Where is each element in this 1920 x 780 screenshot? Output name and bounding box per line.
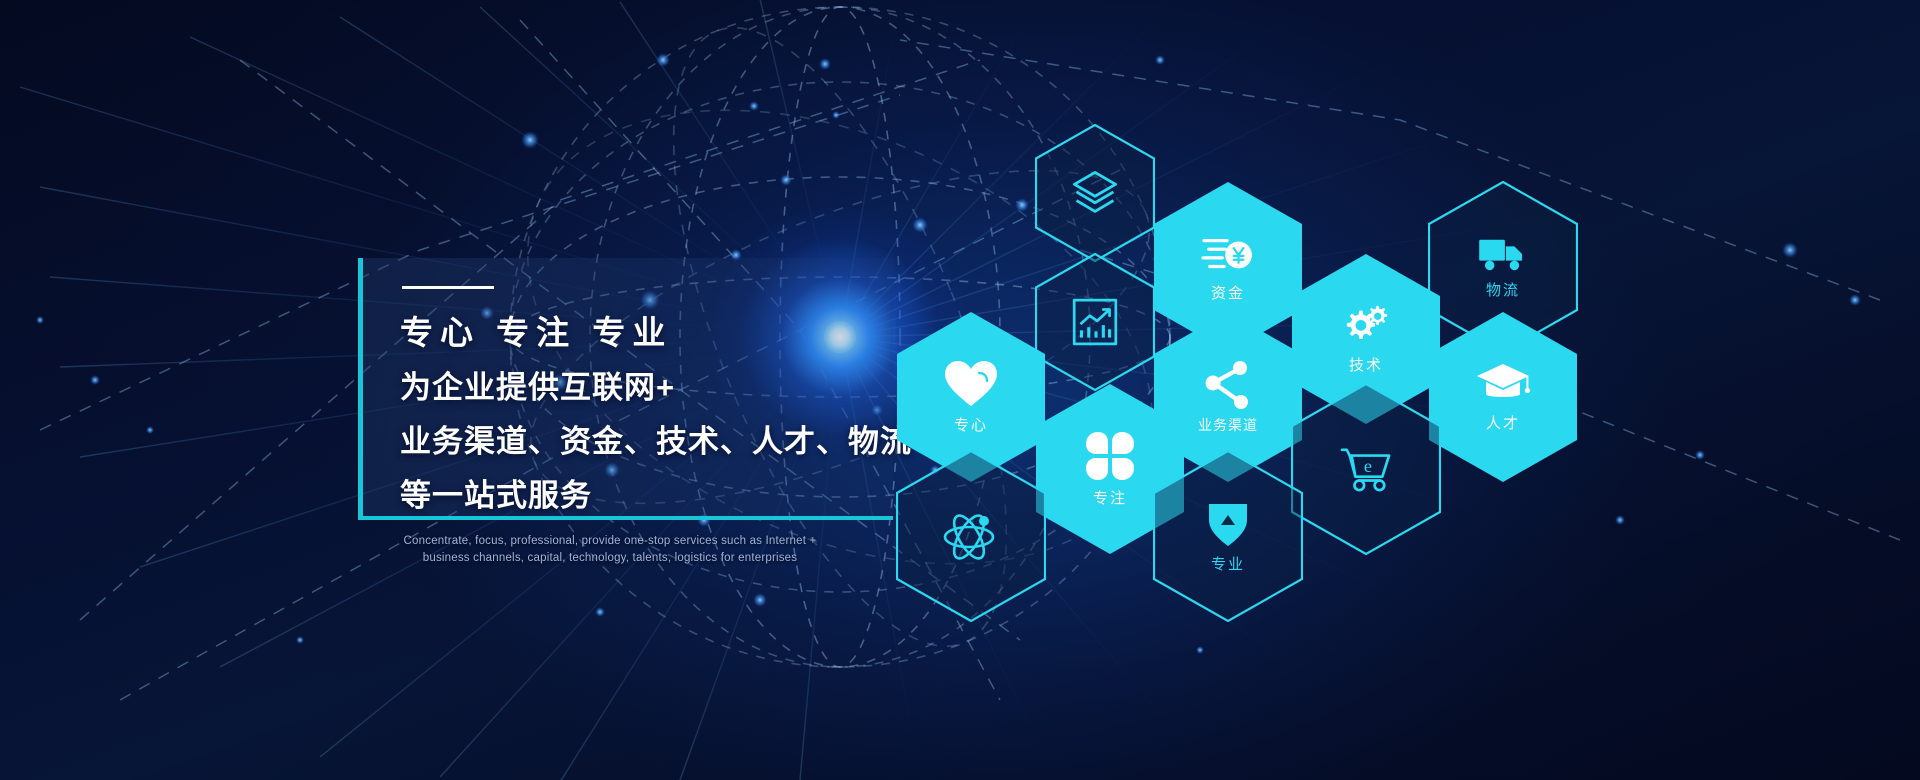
hexagon-layers[interactable] (1035, 124, 1155, 262)
hexagon-label: 技术 (1349, 354, 1383, 375)
hexagon-label: 专注 (1093, 487, 1127, 508)
atom-icon (943, 510, 999, 562)
share-nodes-icon (1203, 360, 1253, 410)
heart-icon (943, 359, 999, 409)
svg-text:e: e (1364, 456, 1372, 476)
hexagon-label: 物流 (1486, 279, 1520, 300)
hexagon-label: 业务渠道 (1198, 415, 1258, 435)
hero-banner: 专心 专注 专业 为企业提供互联网+ 业务渠道、资金、技术、人才、物流 等一站式… (0, 0, 1920, 780)
chart-report-icon (1070, 296, 1120, 348)
hexagon-label: 资金 (1211, 282, 1245, 303)
clover-icon (1084, 430, 1136, 482)
money-yen-icon (1201, 231, 1255, 277)
diamond-icon (1205, 498, 1251, 548)
gears-icon (1341, 303, 1391, 349)
truck-icon (1477, 234, 1529, 274)
hexagon-label: 人才 (1486, 412, 1520, 433)
graduation-cap-icon (1475, 361, 1531, 407)
hexagon-talents[interactable]: 人才 (1428, 311, 1578, 483)
cart-e-icon: e (1339, 445, 1393, 493)
hexagon-label: 专业 (1211, 553, 1245, 574)
hexagon-professional[interactable]: 专业 (1153, 450, 1303, 622)
layers-icon (1069, 167, 1121, 219)
hexagon-atom[interactable] (896, 450, 1046, 622)
hexagon-label: 专心 (954, 414, 988, 435)
hexagon-analytics[interactable] (1035, 253, 1155, 391)
hexagon-cluster: 资金 物流 技术 专心 业务渠道 人才 专注 (0, 0, 1920, 780)
hexagon-ecommerce[interactable]: e (1291, 383, 1441, 555)
